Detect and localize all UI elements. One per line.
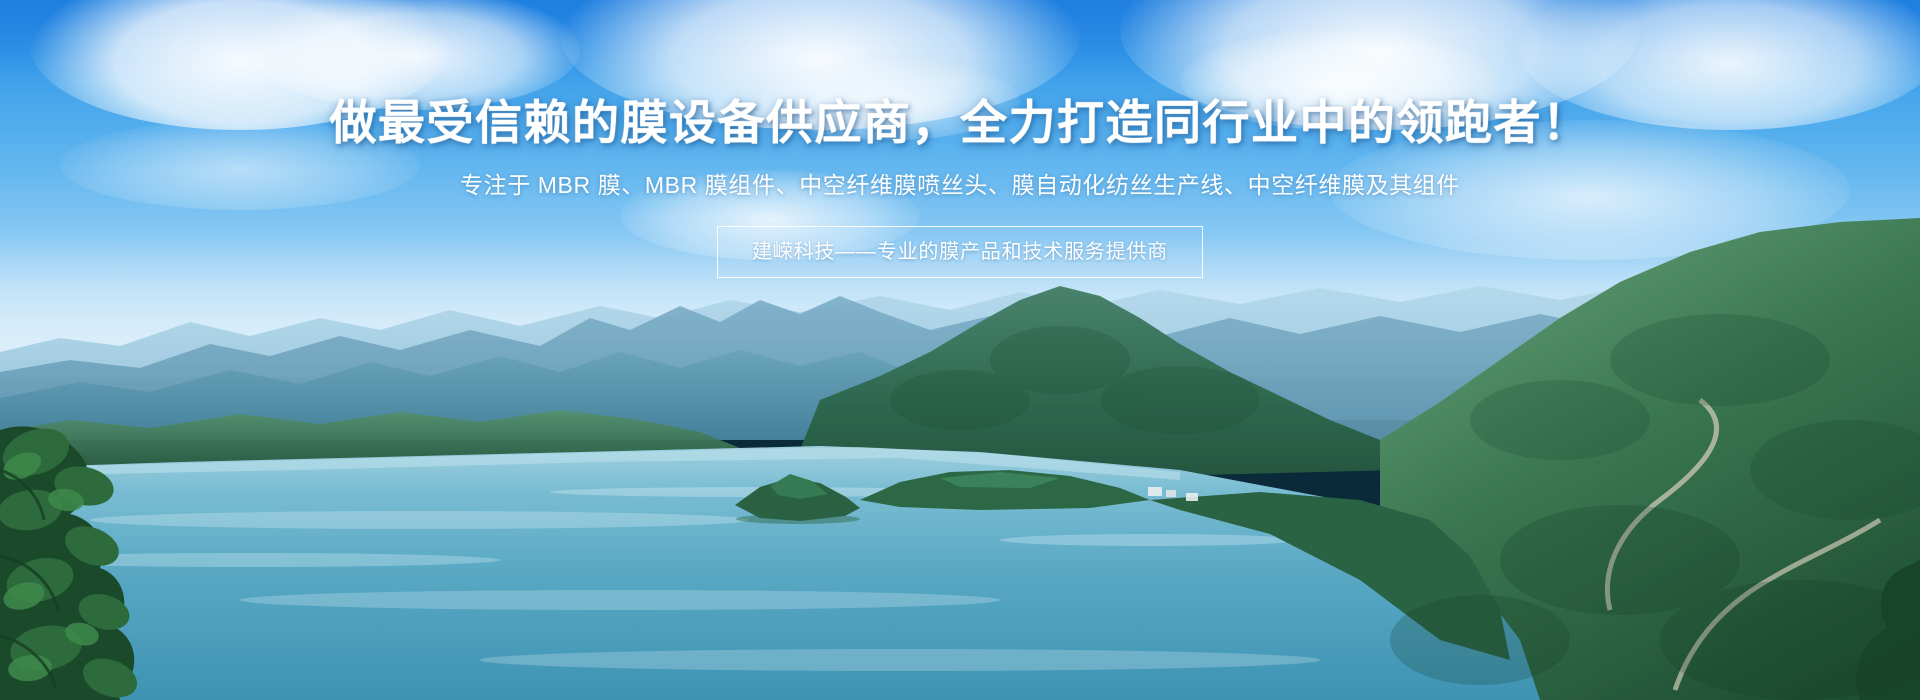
hero-banner: 做最受信赖的膜设备供应商，全力打造同行业中的领跑者！ 专注于 MBR 膜、MBR…	[0, 0, 1920, 700]
hero-text-block: 做最受信赖的膜设备供应商，全力打造同行业中的领跑者！ 专注于 MBR 膜、MBR…	[0, 0, 1920, 278]
tagline-container: 建嵘科技——专业的膜产品和技术服务提供商	[0, 226, 1920, 278]
page-title: 做最受信赖的膜设备供应商，全力打造同行业中的领跑者！	[0, 96, 1920, 150]
hero-subtitle: 专注于 MBR 膜、MBR 膜组件、中空纤维膜喷丝头、膜自动化纺丝生产线、中空纤…	[0, 170, 1920, 200]
tagline-box: 建嵘科技——专业的膜产品和技术服务提供商	[717, 226, 1203, 278]
